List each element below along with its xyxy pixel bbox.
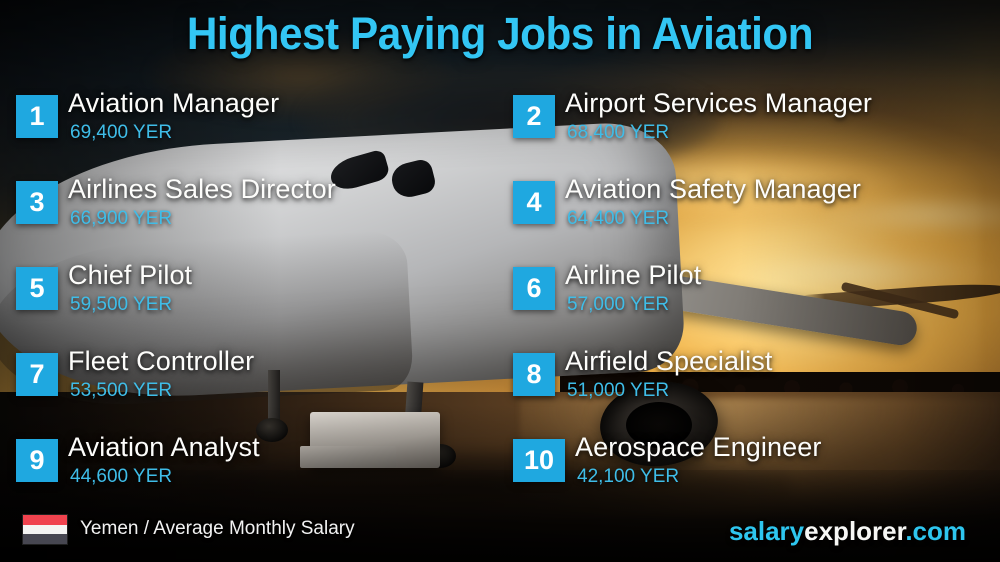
jobs-column-right: 2 Airport Services Manager 68,400 YER 4 … (513, 86, 1000, 516)
job-row-5: 5 Chief Pilot 59,500 YER (16, 258, 506, 344)
yemen-flag-icon (22, 514, 68, 545)
rank-badge-1: 1 (16, 95, 58, 138)
rank-badge-5: 5 (16, 267, 58, 310)
job-salary-2: 68,400 YER (567, 122, 669, 144)
site-brand[interactable]: salaryexplorer.com (729, 516, 966, 547)
job-title-6: Airline Pilot (565, 260, 701, 291)
brand-tld-text: .com (905, 516, 966, 546)
job-title-10: Aerospace Engineer (575, 432, 821, 463)
job-title-2: Airport Services Manager (565, 88, 872, 119)
job-row-1: 1 Aviation Manager 69,400 YER (16, 86, 506, 172)
rank-badge-4: 4 (513, 181, 555, 224)
brand-salary-text: salary (729, 516, 804, 546)
poster-content: Highest Paying Jobs in Aviation 1 Aviati… (0, 0, 1000, 562)
job-title-3: Airlines Sales Director (68, 174, 336, 205)
job-salary-7: 53,500 YER (70, 380, 172, 402)
page-title: Highest Paying Jobs in Aviation (30, 8, 970, 60)
job-row-7: 7 Fleet Controller 53,500 YER (16, 344, 506, 430)
rank-badge-7: 7 (16, 353, 58, 396)
country-salary-label: Yemen / Average Monthly Salary (80, 518, 355, 540)
jobs-column-left: 1 Aviation Manager 69,400 YER 3 Airlines… (16, 86, 506, 516)
job-row-4: 4 Aviation Safety Manager 64,400 YER (513, 172, 1000, 258)
job-title-1: Aviation Manager (68, 88, 279, 119)
job-row-8: 8 Airfield Specialist 51,000 YER (513, 344, 1000, 430)
flag-stripe-red (23, 515, 67, 525)
job-row-6: 6 Airline Pilot 57,000 YER (513, 258, 1000, 344)
job-salary-6: 57,000 YER (567, 294, 669, 316)
infographic-poster: Highest Paying Jobs in Aviation 1 Aviati… (0, 0, 1000, 562)
job-title-7: Fleet Controller (68, 346, 254, 377)
job-row-10: 10 Aerospace Engineer 42,100 YER (513, 430, 1000, 516)
job-row-9: 9 Aviation Analyst 44,600 YER (16, 430, 506, 516)
job-title-9: Aviation Analyst (68, 432, 260, 463)
job-salary-10: 42,100 YER (577, 466, 679, 488)
job-salary-4: 64,400 YER (567, 208, 669, 230)
job-salary-1: 69,400 YER (70, 122, 172, 144)
job-title-5: Chief Pilot (68, 260, 192, 291)
flag-stripe-white (23, 525, 67, 535)
job-salary-5: 59,500 YER (70, 294, 172, 316)
job-title-8: Airfield Specialist (565, 346, 773, 377)
rank-badge-6: 6 (513, 267, 555, 310)
job-row-2: 2 Airport Services Manager 68,400 YER (513, 86, 1000, 172)
rank-badge-10: 10 (513, 439, 565, 482)
jobs-list: 1 Aviation Manager 69,400 YER 3 Airlines… (0, 86, 1000, 506)
rank-badge-8: 8 (513, 353, 555, 396)
job-salary-9: 44,600 YER (70, 466, 172, 488)
rank-badge-3: 3 (16, 181, 58, 224)
flag-stripe-black (23, 534, 67, 544)
poster-footer: Yemen / Average Monthly Salary salaryexp… (0, 506, 1000, 562)
job-salary-3: 66,900 YER (70, 208, 172, 230)
job-salary-8: 51,000 YER (567, 380, 669, 402)
job-row-3: 3 Airlines Sales Director 66,900 YER (16, 172, 506, 258)
brand-explorer-text: explorer (804, 516, 905, 546)
rank-badge-9: 9 (16, 439, 58, 482)
job-title-4: Aviation Safety Manager (565, 174, 861, 205)
rank-badge-2: 2 (513, 95, 555, 138)
